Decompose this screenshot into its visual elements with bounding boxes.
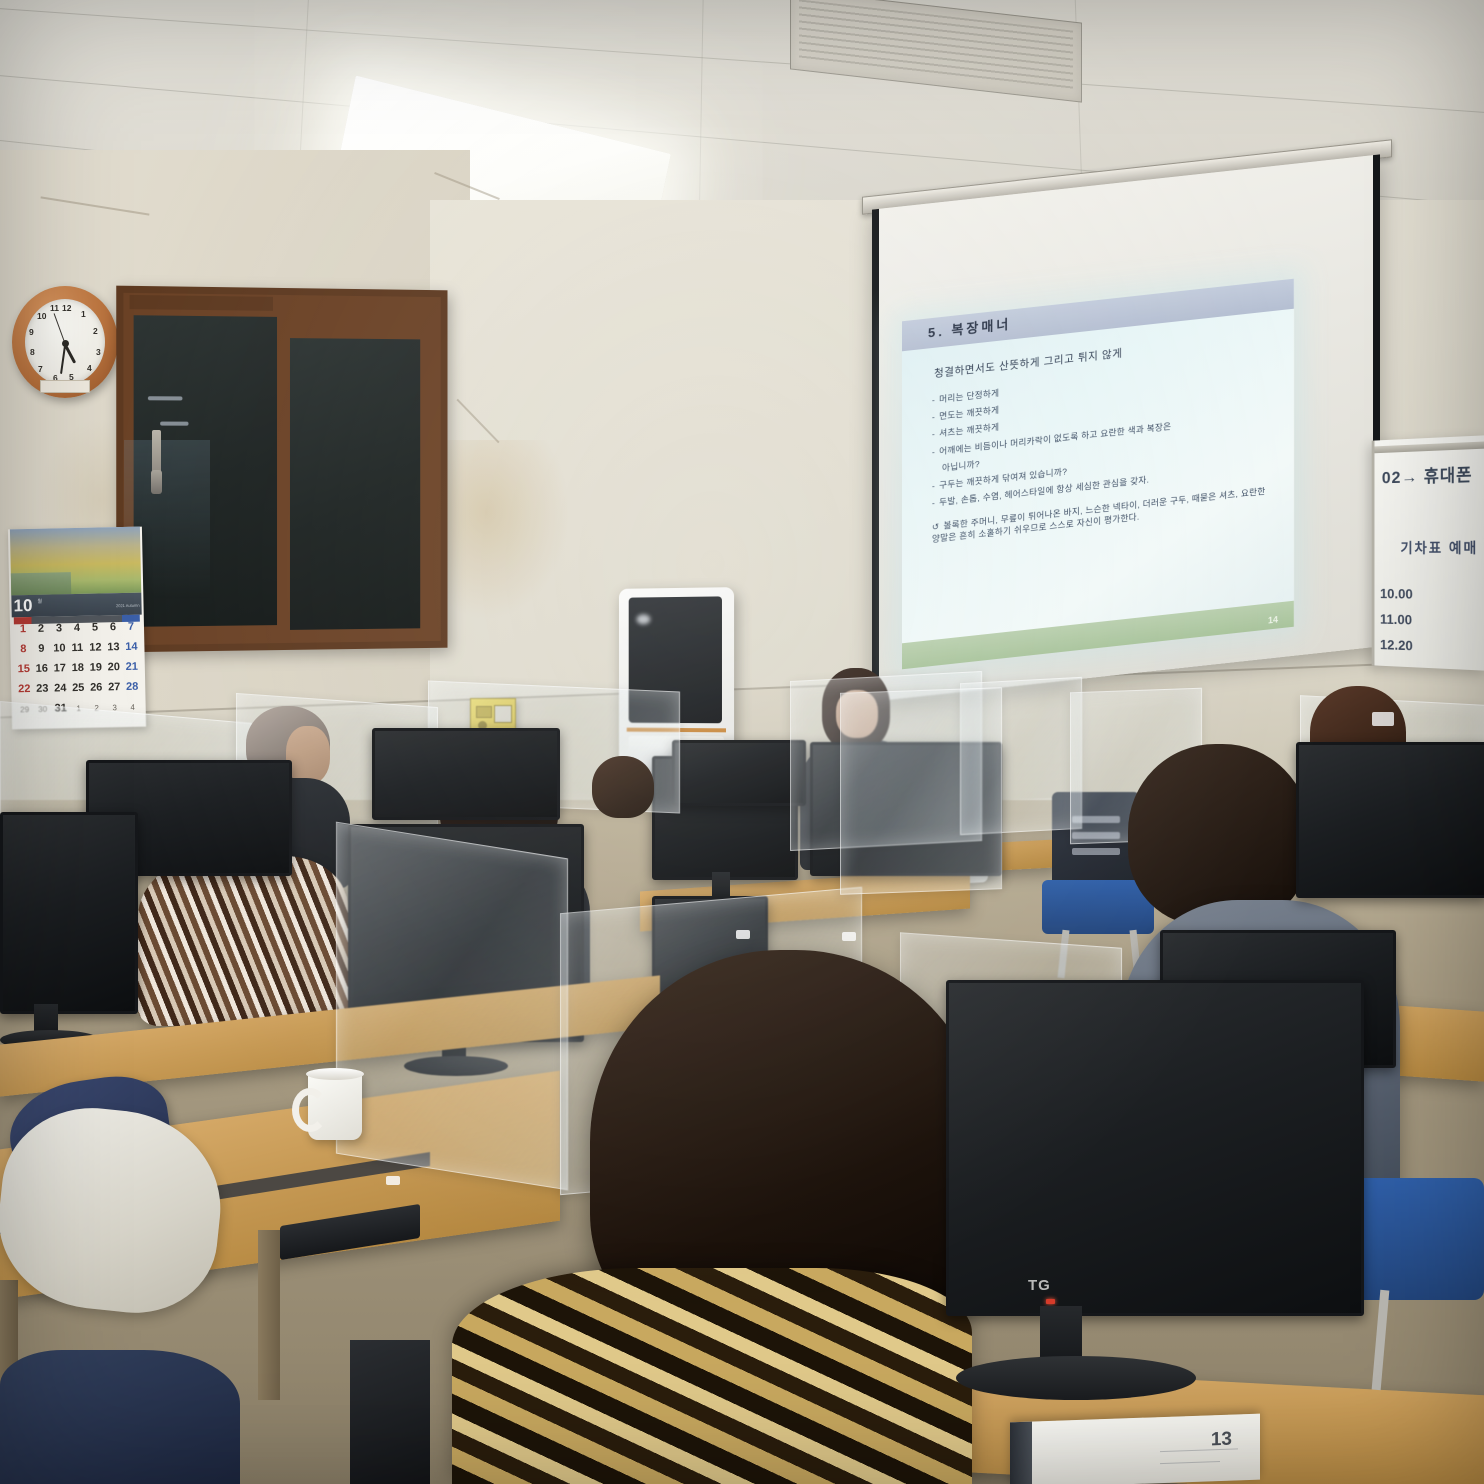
wall-calendar: 10 월 2021 Autumn 1 2 3 4 5 6 7 8 9 10 11…	[8, 527, 146, 730]
classroom-photo: 12 1 2 3 4 5 6 7 8 9 10 11	[0, 0, 1484, 1484]
calendar-day: 27	[105, 681, 123, 693]
clock-number: 12	[62, 303, 71, 313]
clock-number: 10	[37, 311, 46, 321]
student-head	[592, 756, 654, 818]
calendar-photo	[10, 527, 141, 596]
acrylic-partition	[840, 687, 1002, 895]
student-patterned-top	[138, 856, 348, 1026]
calendar-day: 1	[14, 623, 32, 635]
clock-number: 3	[96, 347, 101, 357]
desk-leg	[258, 1230, 280, 1400]
clock-number: 8	[30, 347, 35, 357]
monitor-base	[956, 1356, 1196, 1400]
calendar-day: 8	[14, 643, 32, 655]
calendar-day: 4	[68, 622, 86, 634]
calendar-day: 7	[122, 621, 140, 633]
window-pane-right	[285, 333, 425, 635]
monitor-screen[interactable]	[372, 728, 560, 820]
clock-number: 11	[50, 303, 59, 313]
clock-second-hand	[54, 313, 66, 343]
monitor-screen[interactable]	[946, 980, 1364, 1316]
clock-number: 1	[81, 309, 86, 319]
calendar-day: 3	[50, 622, 68, 634]
calendar-day: 21	[123, 661, 141, 673]
slide-page-number: 14	[1268, 614, 1278, 625]
monitor-screen[interactable]	[0, 812, 138, 1014]
pc-tower	[350, 1340, 430, 1484]
window-transom	[130, 295, 273, 311]
clock-face: 12 1 2 3 4 5 6 7 8 9 10 11	[25, 299, 105, 385]
coffee-mug[interactable]	[308, 1072, 362, 1140]
calendar-week: 22 23 24 25 26 27 28	[15, 677, 141, 700]
calendar-day: 23	[33, 683, 51, 695]
calendar-day: 5	[86, 621, 104, 633]
monitor[interactable]: TG	[946, 980, 1358, 1310]
wall-clock: 12 1 2 3 4 5 6 7 8 9 10 11	[12, 286, 118, 398]
whiteboard-time-1: 10.00	[1380, 585, 1413, 601]
open-notebook: 13	[1010, 1414, 1260, 1484]
calendar-day: 15	[15, 663, 33, 675]
calendar-day: 12	[86, 641, 104, 653]
calendar-day: 25	[69, 682, 87, 694]
wall-stain	[430, 440, 570, 620]
calendar-brand: 2021 Autumn	[116, 603, 140, 608]
monitor-power-led	[1046, 1299, 1055, 1304]
mug-handle	[292, 1088, 328, 1132]
chair-seat[interactable]	[1042, 880, 1154, 934]
slide-bullet-text: 셔츠는 깨끗하게	[939, 422, 999, 439]
calendar-week: 15 16 17 18 19 20 21	[15, 657, 141, 680]
acrylic-clip	[736, 930, 750, 939]
kiosk-screen-glare	[637, 614, 651, 624]
calendar-day: 26	[87, 681, 105, 693]
monitor[interactable]	[0, 812, 132, 1008]
student-head	[1128, 744, 1310, 926]
clock-number: 4	[87, 363, 92, 373]
window-handle[interactable]	[151, 470, 162, 494]
monitor[interactable]	[372, 728, 554, 814]
projected-slide: 5. 복장매너 청결하면서도 산뜻하게 그리고 튀지 않게 -머리는 단정하게 …	[902, 279, 1294, 670]
whiteboard-time-3: 12.20	[1380, 636, 1413, 653]
calendar-day: 24	[51, 682, 69, 694]
slide-bullet-text: 머리는 단정하게	[939, 388, 999, 405]
screen-edge-left	[872, 209, 879, 702]
calendar-day: 28	[123, 681, 141, 693]
hair-clip	[1372, 712, 1394, 726]
calendar-month-suffix: 월	[37, 599, 42, 605]
calendar-week: 8 9 10 11 12 13 14	[14, 637, 140, 660]
clock-label	[40, 380, 90, 393]
calendar-day: 17	[51, 662, 69, 674]
monitor[interactable]	[1296, 742, 1482, 892]
calendar-day: 10	[50, 642, 68, 654]
calendar-day: 13	[104, 641, 122, 653]
acrylic-clip	[842, 932, 856, 941]
slide-bullet-text: 면도는 깨끗하게	[939, 405, 999, 422]
calendar-day: 14	[122, 641, 140, 653]
whiteboard-line-1: 02→ 휴대폰	[1382, 460, 1473, 488]
clock-number: 9	[29, 327, 34, 337]
calendar-month: 10	[13, 595, 32, 617]
notebook-spine	[1010, 1422, 1032, 1484]
chair-seat[interactable]	[1352, 1178, 1484, 1300]
calendar-week: 1 2 3 4 5 6 7	[14, 617, 140, 640]
clock-number: 7	[38, 364, 43, 374]
clock-number: 2	[93, 326, 98, 336]
notebook-page-number: 13	[1211, 1429, 1232, 1452]
calendar-day: 9	[32, 643, 50, 655]
monitor-screen[interactable]	[672, 740, 806, 806]
whiteboard-time-2: 11.00	[1380, 611, 1412, 628]
acrylic-clip	[386, 1176, 400, 1185]
slide-body: 청결하면서도 산뜻하게 그리고 튀지 않게 -머리는 단정하게 -면도는 깨끗하…	[928, 319, 1276, 546]
calendar-day: 20	[105, 661, 123, 673]
foreground-person-jeans	[0, 1350, 240, 1484]
calendar-day: 11	[68, 642, 86, 654]
monitor-brand: TG	[1028, 1277, 1051, 1294]
calendar-day: 22	[15, 683, 33, 695]
calendar-day: 6	[104, 621, 122, 633]
acrylic-partition	[336, 822, 568, 1191]
monitor[interactable]	[672, 740, 800, 800]
foreground-person-patterned-top	[452, 1268, 972, 1484]
whiteboard-line-2: 기차표 예매	[1400, 538, 1478, 558]
monitor-screen[interactable]	[1296, 742, 1484, 898]
calendar-day: 16	[33, 663, 51, 675]
whiteboard-tray	[1374, 441, 1484, 453]
clock-center-pin	[62, 340, 69, 347]
calendar-day: 2	[32, 623, 50, 635]
whiteboard: 02→ 휴대폰 기차표 예매 10.00 11.00 12.20	[1372, 435, 1484, 671]
calendar-day: 18	[69, 662, 87, 674]
student-face	[286, 726, 330, 784]
clock-minute-hand	[60, 344, 67, 374]
calendar-day: 19	[87, 661, 105, 673]
mug-rim	[306, 1068, 364, 1080]
